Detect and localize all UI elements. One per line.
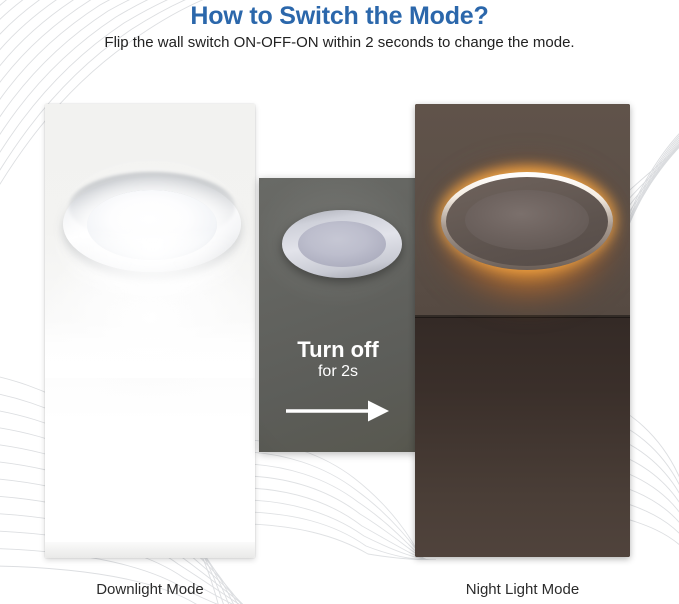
turn-off-headline: Turn off [259, 338, 417, 361]
page-title: How to Switch the Mode? [0, 2, 679, 31]
infographic-canvas: How to Switch the Mode? Flip the wall sw… [0, 0, 679, 604]
turn-off-copy: Turn off for 2s [259, 338, 417, 383]
arrow-right-icon [286, 400, 390, 422]
page-subtitle: Flip the wall switch ON-OFF-ON within 2 … [0, 34, 679, 51]
ceiling-light-night-icon [437, 166, 617, 286]
label-downlight-mode: Downlight Mode [45, 581, 255, 598]
lower-wall [415, 317, 630, 557]
panel-night-light-mode: Turn On [415, 104, 630, 557]
panel-downlight-mode: Turn On [45, 104, 255, 558]
panel-turn-off: Turn off for 2s [259, 178, 417, 452]
turn-off-duration: for 2s [259, 361, 417, 383]
ceiling-light-on-icon [63, 172, 241, 277]
floor-strip [45, 542, 255, 558]
ceiling-light-off-icon [282, 210, 402, 282]
wall-floor-gradient [45, 318, 255, 378]
label-night-light-mode: Night Light Mode [415, 581, 630, 598]
lamp-diffuser [298, 221, 386, 267]
lamp-inner-disc [465, 190, 589, 250]
